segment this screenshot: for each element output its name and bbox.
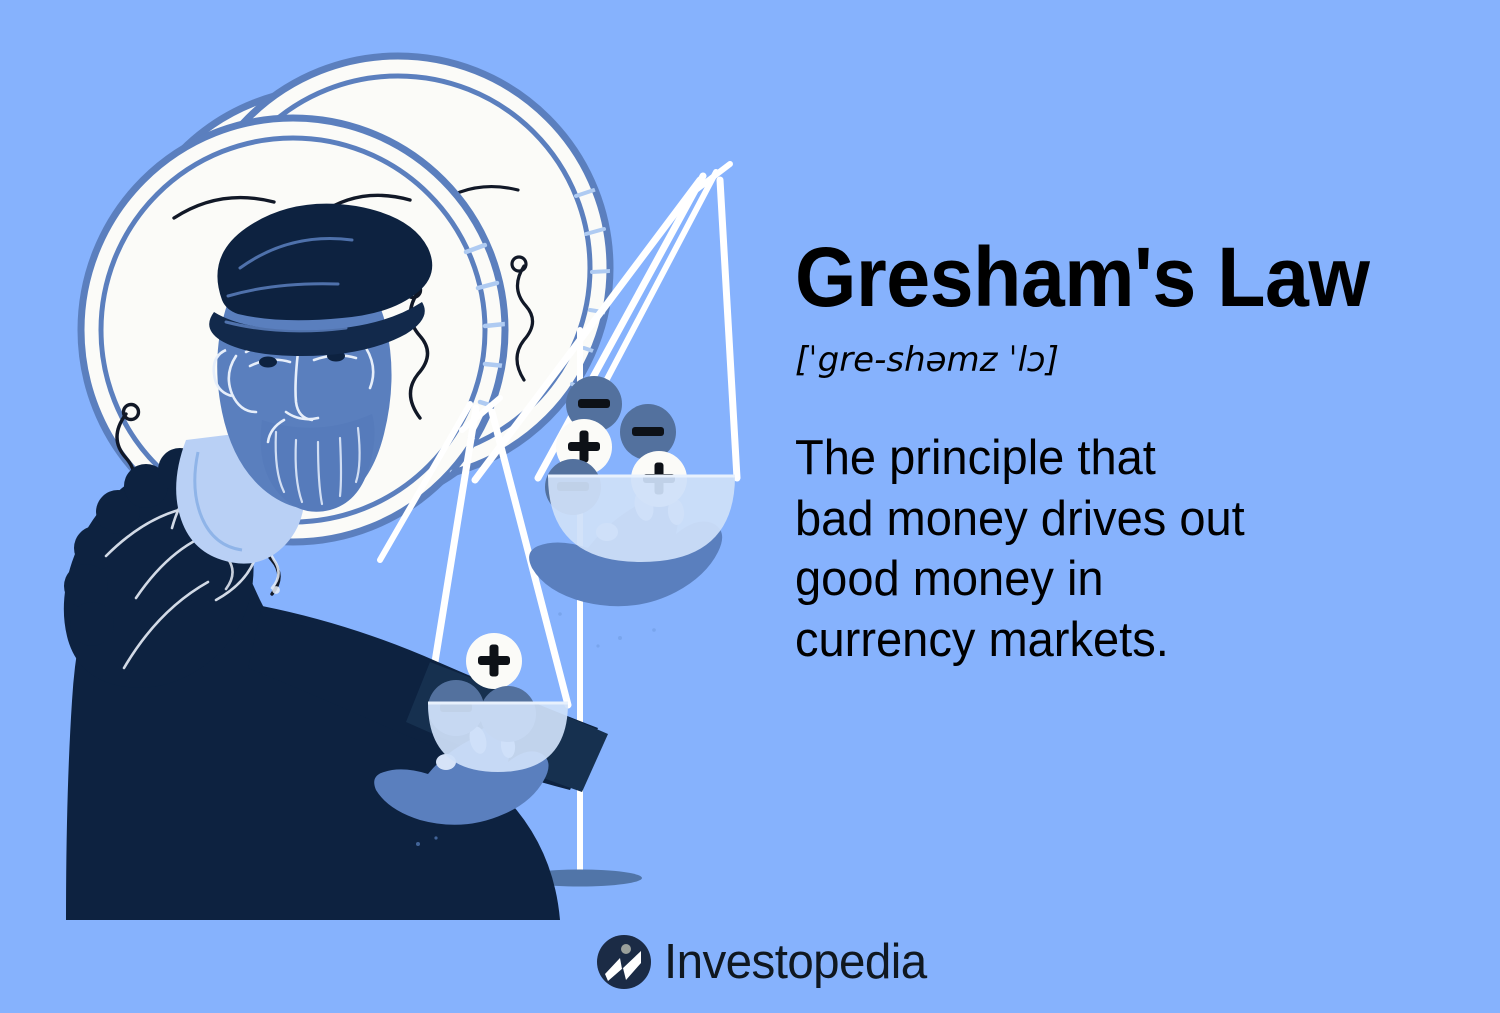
scale-pan-right: [545, 376, 735, 562]
definition-line-3: good money in: [795, 549, 1409, 610]
definition-line-2: bad money drives out: [795, 489, 1409, 550]
gresham-illustration: [0, 0, 780, 920]
pronunciation: [ˈgre-shəmz ˈlɔ]: [795, 340, 1435, 380]
investopedia-logo: Investopedia: [596, 934, 935, 990]
definition-line-1: The principle that: [795, 428, 1409, 489]
infographic-canvas: Gresham's Law [ˈgre-shəmz ˈlɔ] The princ…: [0, 0, 1500, 1013]
page-title: Gresham's Law: [795, 238, 1397, 318]
investopedia-wordmark: Investopedia: [664, 938, 927, 987]
definition-text: The principle that bad money drives out …: [795, 428, 1409, 671]
text-column: Gresham's Law [ˈgre-shəmz ˈlɔ] The princ…: [795, 238, 1435, 671]
scale-pan-left: [428, 633, 568, 772]
investopedia-circle-mark: [596, 934, 652, 990]
definition-line-4: currency markets.: [795, 610, 1409, 671]
